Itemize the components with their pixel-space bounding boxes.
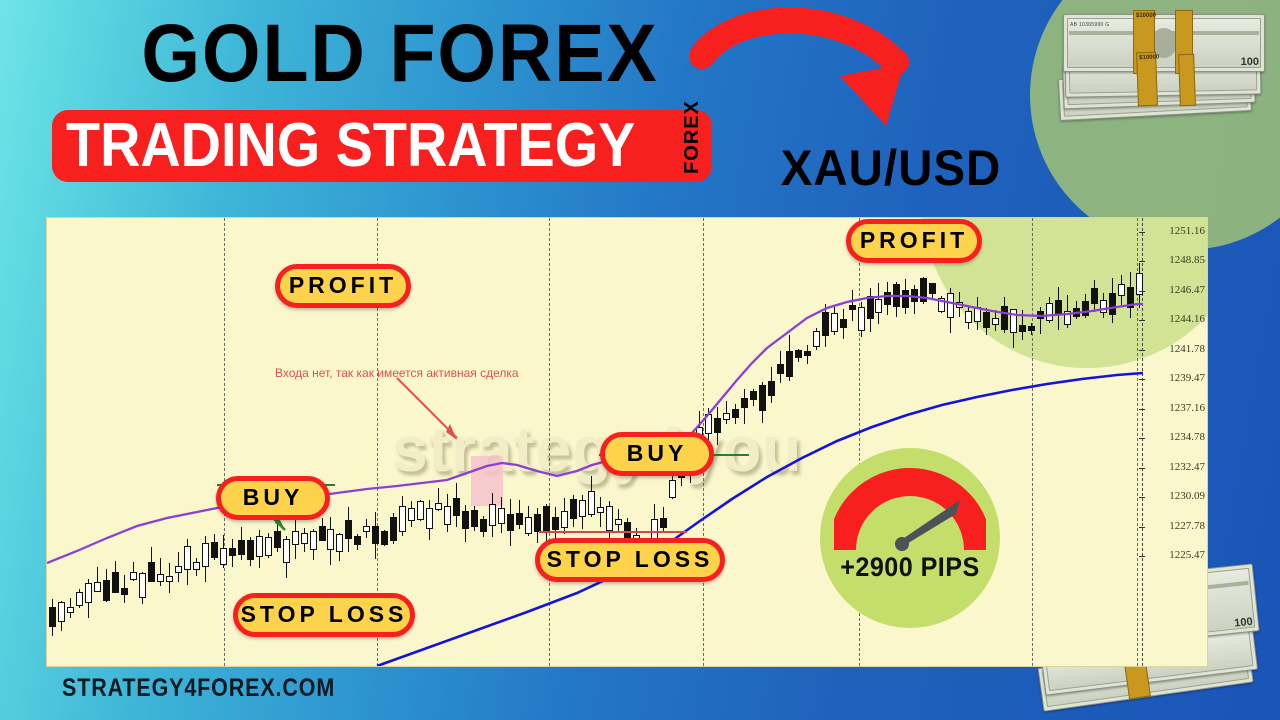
pips-gauge: +2900 PIPS — [820, 448, 1000, 628]
axis-tick-label: 1246.47 — [1169, 284, 1205, 296]
annotation-arrow-head — [446, 424, 457, 440]
badge-buy[interactable]: BUY — [216, 476, 330, 520]
axis-tick — [1139, 379, 1145, 380]
axis-tick-label: 1232.47 — [1169, 461, 1205, 473]
axis-tick-label: 1230.09 — [1169, 490, 1205, 502]
axis-tick — [1139, 438, 1145, 439]
axis-tick — [1139, 291, 1145, 292]
axis-tick-label: 1237.16 — [1169, 402, 1205, 414]
poster-canvas: GOLD FOREX TRADING STRATEGY FOREX XAU/US… — [0, 0, 1280, 720]
axis-tick-label: 1239.47 — [1169, 372, 1205, 384]
axis-tick — [1139, 527, 1145, 528]
badge-profit[interactable]: PROFIT — [275, 264, 411, 308]
axis-tick — [1139, 556, 1145, 557]
axis-tick-label: 1244.16 — [1169, 313, 1205, 325]
gauge-arc-icon — [834, 464, 986, 554]
gauge-value-label: +2900 PIPS — [826, 552, 993, 583]
badge-buy[interactable]: BUY — [600, 432, 714, 476]
axis-tick — [1139, 320, 1145, 321]
curved-arrow-down-right-icon — [690, 8, 1010, 148]
annotation-text: Входа нет, так как имеется активная сдел… — [275, 366, 519, 380]
stoploss-line — [539, 531, 687, 533]
axis-tick — [1139, 261, 1145, 262]
axis-tick-label: 1225.47 — [1169, 549, 1205, 561]
axis-tick-label: 1234.78 — [1169, 431, 1205, 443]
badge-stop-loss[interactable]: STOP LOSS — [535, 538, 725, 582]
headline-banner: TRADING STRATEGY FOREX — [52, 110, 712, 182]
axis-tick — [1139, 350, 1145, 351]
badge-profit[interactable]: PROFIT — [846, 219, 982, 263]
slow-ma-line — [377, 373, 1143, 666]
axis-tick-label: 1241.78 — [1169, 343, 1205, 355]
money-stack-icon: AB 10365990 G 100 $10000 $10000 — [1055, 6, 1280, 126]
axis-tick-label: 1227.78 — [1169, 520, 1205, 532]
site-url[interactable]: STRATEGY4FOREX.COM — [62, 674, 335, 703]
axis-tick — [1139, 497, 1145, 498]
axis-tick — [1139, 232, 1145, 233]
axis-tick — [1139, 468, 1145, 469]
axis-tick-label: 1248.85 — [1169, 254, 1205, 266]
badge-stop-loss[interactable]: STOP LOSS — [233, 593, 415, 637]
axis-tick — [1139, 409, 1145, 410]
currency-pair-label: XAU/USD — [772, 140, 1010, 196]
page-title: GOLD FOREX — [133, 6, 667, 102]
axis-tick-label: 1251.16 — [1169, 225, 1205, 237]
banner-title: TRADING STRATEGY — [66, 112, 606, 180]
